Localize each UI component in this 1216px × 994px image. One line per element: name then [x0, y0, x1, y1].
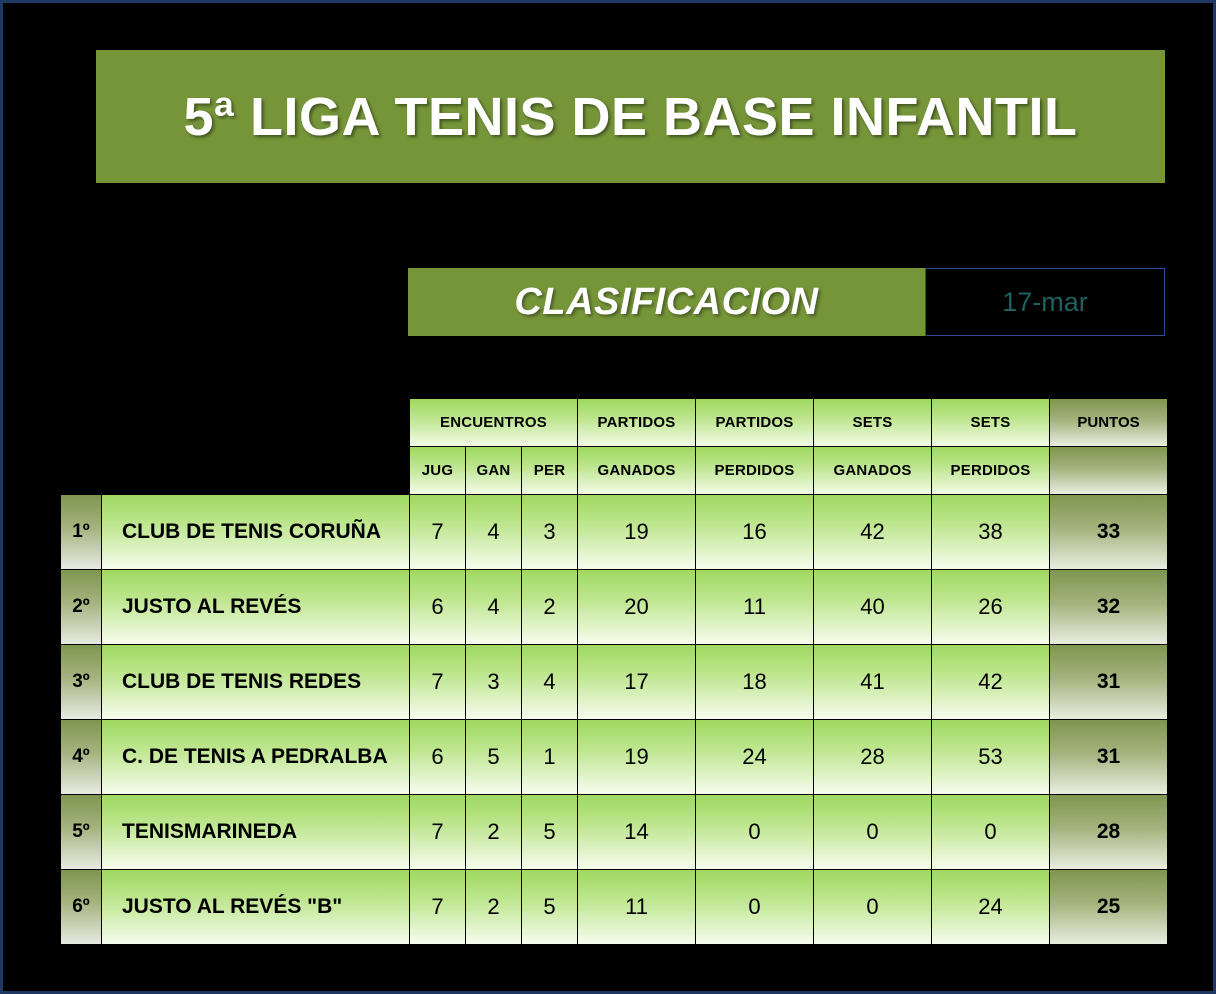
page-title: 5ª LIGA TENIS DE BASE INFANTIL [183, 86, 1077, 148]
subheader-sets-perdidos: PERDIDOS [932, 447, 1049, 494]
table-row: 1º CLUB DE TENIS CORUÑA 7 4 3 19 16 42 3… [61, 495, 1167, 569]
subheader-jug: JUG [410, 447, 465, 494]
row-sets-perdidos: 53 [932, 720, 1049, 794]
subheader-gan: GAN [466, 447, 521, 494]
row-partidos-ganados: 14 [578, 795, 695, 869]
row-position: 4º [61, 720, 101, 794]
row-sets-perdidos: 38 [932, 495, 1049, 569]
spacer-sub-team [102, 447, 409, 494]
row-per: 5 [522, 795, 577, 869]
clasificacion-label: CLASIFICACION [408, 268, 925, 336]
spacer-sub-pos [61, 447, 101, 494]
row-partidos-perdidos: 18 [696, 645, 813, 719]
row-gan: 2 [466, 795, 521, 869]
standings-table-wrapper: ENCUENTROS PARTIDOS PARTIDOS SETS SETS P… [60, 398, 1161, 945]
table-row: 2º JUSTO AL REVÉS 6 4 2 20 11 40 26 32 [61, 570, 1167, 644]
row-position: 3º [61, 645, 101, 719]
row-puntos: 33 [1050, 495, 1167, 569]
row-sets-perdidos: 0 [932, 795, 1049, 869]
row-gan: 4 [466, 495, 521, 569]
row-puntos: 28 [1050, 795, 1167, 869]
row-jug: 7 [410, 645, 465, 719]
spacer-head-team [102, 399, 409, 446]
row-partidos-ganados: 17 [578, 645, 695, 719]
date-value: 17-mar [1002, 287, 1088, 318]
row-partidos-ganados: 19 [578, 495, 695, 569]
row-position: 1º [61, 495, 101, 569]
header-sets-ganados-group: SETS [814, 399, 931, 446]
subheader-puntos-blank [1050, 447, 1167, 494]
row-partidos-perdidos: 16 [696, 495, 813, 569]
row-team-name: C. DE TENIS A PEDRALBA [102, 720, 409, 794]
row-position: 5º [61, 795, 101, 869]
header-sets-perdidos-group: SETS [932, 399, 1049, 446]
row-position: 6º [61, 870, 101, 944]
row-partidos-perdidos: 0 [696, 795, 813, 869]
subheader-partidos-perdidos: PERDIDOS [696, 447, 813, 494]
row-sets-ganados: 0 [814, 870, 931, 944]
subheader-sets-ganados: GANADOS [814, 447, 931, 494]
row-jug: 7 [410, 795, 465, 869]
row-per: 1 [522, 720, 577, 794]
row-jug: 6 [410, 570, 465, 644]
table-row: 3º CLUB DE TENIS REDES 7 3 4 17 18 41 42… [61, 645, 1167, 719]
header-partidos-ganados-group: PARTIDOS [578, 399, 695, 446]
row-team-name: JUSTO AL REVÉS [102, 570, 409, 644]
header-puntos: PUNTOS [1050, 399, 1167, 446]
spacer-head-pos [61, 399, 101, 446]
table-row: 4º C. DE TENIS A PEDRALBA 6 5 1 19 24 28… [61, 720, 1167, 794]
row-gan: 4 [466, 570, 521, 644]
row-sets-perdidos: 24 [932, 870, 1049, 944]
row-sets-ganados: 28 [814, 720, 931, 794]
row-position: 2º [61, 570, 101, 644]
row-team-name: TENISMARINEDA [102, 795, 409, 869]
row-jug: 7 [410, 870, 465, 944]
standings-table: ENCUENTROS PARTIDOS PARTIDOS SETS SETS P… [60, 398, 1168, 945]
clasificacion-header-row: CLASIFICACION 17-mar [408, 268, 1165, 336]
row-sets-perdidos: 42 [932, 645, 1049, 719]
row-puntos: 31 [1050, 720, 1167, 794]
row-partidos-ganados: 11 [578, 870, 695, 944]
row-jug: 6 [410, 720, 465, 794]
table-row: 5º TENISMARINEDA 7 2 5 14 0 0 0 28 [61, 795, 1167, 869]
row-sets-ganados: 40 [814, 570, 931, 644]
row-sets-perdidos: 26 [932, 570, 1049, 644]
row-puntos: 32 [1050, 570, 1167, 644]
date-box: 17-mar [925, 268, 1165, 336]
row-sets-ganados: 0 [814, 795, 931, 869]
table-body: 1º CLUB DE TENIS CORUÑA 7 4 3 19 16 42 3… [61, 495, 1167, 944]
header-encuentros: ENCUENTROS [410, 399, 577, 446]
sub-header-row: JUG GAN PER GANADOS PERDIDOS GANADOS PER… [61, 447, 1167, 494]
row-per: 5 [522, 870, 577, 944]
row-sets-ganados: 42 [814, 495, 931, 569]
row-puntos: 25 [1050, 870, 1167, 944]
table-row: 6º JUSTO AL REVÉS "B" 7 2 5 11 0 0 24 25 [61, 870, 1167, 944]
subheader-per: PER [522, 447, 577, 494]
row-team-name: CLUB DE TENIS CORUÑA [102, 495, 409, 569]
standings-page: 5ª LIGA TENIS DE BASE INFANTIL CLASIFICA… [0, 0, 1216, 994]
row-partidos-perdidos: 11 [696, 570, 813, 644]
group-header-row: ENCUENTROS PARTIDOS PARTIDOS SETS SETS P… [61, 399, 1167, 446]
header-partidos-perdidos-group: PARTIDOS [696, 399, 813, 446]
row-gan: 5 [466, 720, 521, 794]
row-sets-ganados: 41 [814, 645, 931, 719]
row-team-name: CLUB DE TENIS REDES [102, 645, 409, 719]
row-per: 2 [522, 570, 577, 644]
row-partidos-ganados: 19 [578, 720, 695, 794]
row-per: 3 [522, 495, 577, 569]
row-gan: 3 [466, 645, 521, 719]
table-head: ENCUENTROS PARTIDOS PARTIDOS SETS SETS P… [61, 399, 1167, 494]
row-partidos-ganados: 20 [578, 570, 695, 644]
title-banner: 5ª LIGA TENIS DE BASE INFANTIL [96, 50, 1165, 183]
row-jug: 7 [410, 495, 465, 569]
row-gan: 2 [466, 870, 521, 944]
row-partidos-perdidos: 24 [696, 720, 813, 794]
row-per: 4 [522, 645, 577, 719]
row-puntos: 31 [1050, 645, 1167, 719]
row-team-name: JUSTO AL REVÉS "B" [102, 870, 409, 944]
row-partidos-perdidos: 0 [696, 870, 813, 944]
subheader-partidos-ganados: GANADOS [578, 447, 695, 494]
